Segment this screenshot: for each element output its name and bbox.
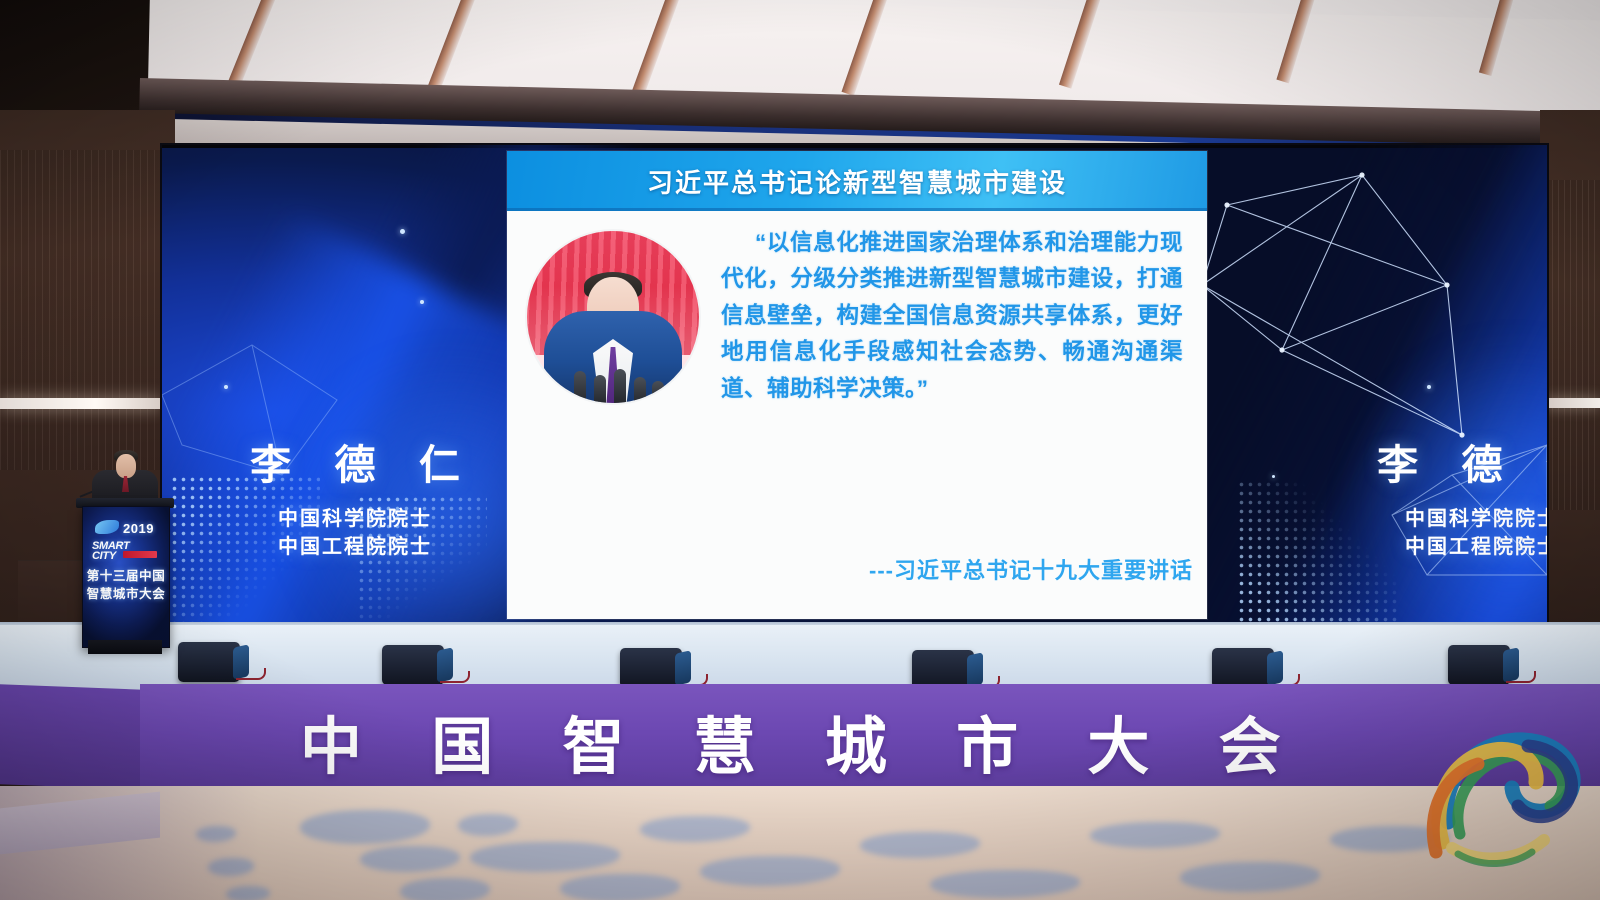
carpet-pattern-blotch [1180,862,1320,892]
led-wall-screen: 李 德 仁 中国科学院院士 中国工程院院士 李 德 仁 中国科学院院士 中国工程… [160,143,1549,632]
carpet-pattern-blotch [860,832,980,858]
slide-title-bar: 习近平总书记论新型智慧城市建设 [507,151,1207,211]
smart-city-ribbon-logo [1408,702,1598,882]
microphone-icon [594,375,606,403]
podium-year: 2019 [123,521,154,536]
screen-light-speck [224,385,228,389]
podium-cn-line1: 第十三届中国 [83,565,169,584]
stage-banner-text: 中 国 智 慧 城 市 大 会 [300,696,1480,786]
carpet-pattern-blotch [470,842,620,872]
smart-city-swoosh-icon [95,520,119,534]
podium-base [88,640,162,654]
screen-light-speck [1427,385,1431,389]
stage-floor-monitor [382,645,444,685]
stage-floor-monitor [620,648,682,688]
presentation-slide: 习近平总书记论新型智慧城市建设 [507,151,1207,619]
carpet-pattern-blotch [930,870,1080,898]
podium-cn-line2: 智慧城市大会 [83,583,169,602]
wall-left-light-strip [0,398,160,409]
carpet-pattern-blotch [640,816,750,842]
speaker-name-right: 李 德 仁 [1317,431,1549,491]
carpet-pattern-blotch [1090,822,1220,848]
stage-floor-monitor [178,642,240,682]
conference-stage-photo: 李 德 仁 中国科学院院士 中国工程院院士 李 德 仁 中国科学院院士 中国工程… [0,0,1600,900]
stage-floor-monitor [1448,645,1510,685]
slide-title: 习近平总书记论新型智慧城市建设 [647,163,1067,200]
slide-body: “以信息化推进国家治理体系和治理能力现代化，分级分类推进新型智慧城市建设，打通信… [507,211,1207,619]
microphone-icon [614,369,626,403]
screen-light-speck [400,229,405,234]
microphone-icon [634,377,646,403]
carpet-pattern-blotch [458,814,518,836]
microphone-icon [574,371,586,403]
speaker-name-left: 李 德 仁 [190,431,520,491]
podium-red-tag [123,551,157,558]
monitor-cable [236,668,266,680]
podium-front-panel: 2019 SMART CITY 第十三届中国 智慧城市大会 [82,506,170,648]
carpet-pattern-blotch [400,878,490,900]
leader-portrait-image [527,231,699,403]
slide-quote-text: “以信息化推进国家治理体系和治理能力现代化，分级分类推进新型智慧城市建设，打通信… [721,225,1183,407]
microphone-icon [652,381,664,403]
monitor-cable [1506,671,1536,683]
screen-light-speck [420,300,424,304]
carpet-pattern-blotch [700,856,840,886]
speaker-title-left-line1: 中国科学院院士 [190,505,520,533]
stage-front-banner: 中 国 智 慧 城 市 大 会 [140,684,1600,792]
speaker-title-right-line2: 中国工程院院士 [1317,533,1549,561]
speaker-name-panel-right: 李 德 仁 中国科学院院士 中国工程院院士 [1317,431,1549,562]
wall-left-wood-slats [0,150,175,470]
wall-right-wood-slats [1540,180,1600,510]
speaker-title-left-line2: 中国工程院院士 [190,533,520,561]
stage-front-left-wing [0,684,150,790]
monitor-cable [440,671,470,683]
portrait-microphones [550,365,676,403]
stage-floor-monitor [1212,648,1274,688]
speaker-name-panel-left: 李 德 仁 中国科学院院士 中国工程院院士 [190,431,520,562]
carpet-pattern-blotch [560,874,680,900]
carpet-pattern-blotch [360,846,460,872]
speaker-title-right-line1: 中国科学院院士 [1317,505,1549,533]
podium-brand-line2: CITY [92,550,116,562]
slide-quote-attribution: ---习近平总书记十九大重要讲话 [869,553,1193,585]
screen-light-speck [1272,475,1275,478]
wall-right-light-strip [1546,398,1600,408]
presenter-head [116,454,136,478]
carpet-pattern-blotch [300,810,430,844]
